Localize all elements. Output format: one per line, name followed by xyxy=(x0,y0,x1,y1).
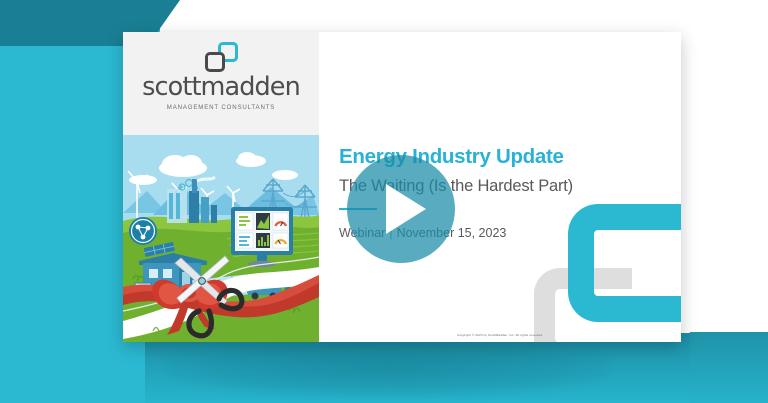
background-right-teal-block xyxy=(690,332,768,403)
background-bottom-left-cyan xyxy=(0,333,145,403)
brand-logo-block: scottmadden MANAGEMENT CONSULTANTS xyxy=(123,32,319,135)
copyright-notice: Copyright © 2023 by ScottMadden, Inc. Al… xyxy=(319,333,681,337)
logo-square-dark xyxy=(205,52,225,72)
play-triangle-icon xyxy=(386,184,426,234)
scottmadden-logo-icon xyxy=(204,42,238,72)
illustration-svg xyxy=(123,135,319,342)
bracket-teal-icon xyxy=(568,204,681,322)
slide-drop-shadow xyxy=(168,338,608,398)
bracket-decoration xyxy=(534,204,681,342)
play-button[interactable] xyxy=(347,155,455,263)
brand-wordmark: scottmadden xyxy=(142,75,300,101)
energy-industry-illustration xyxy=(123,135,319,342)
bracket-teal-shape xyxy=(568,204,681,322)
brand-descriptor: MANAGEMENT CONSULTANTS xyxy=(167,104,275,111)
background-right-white-notch xyxy=(690,0,768,333)
slide-left-panel: scottmadden MANAGEMENT CONSULTANTS Smart… xyxy=(123,32,319,342)
